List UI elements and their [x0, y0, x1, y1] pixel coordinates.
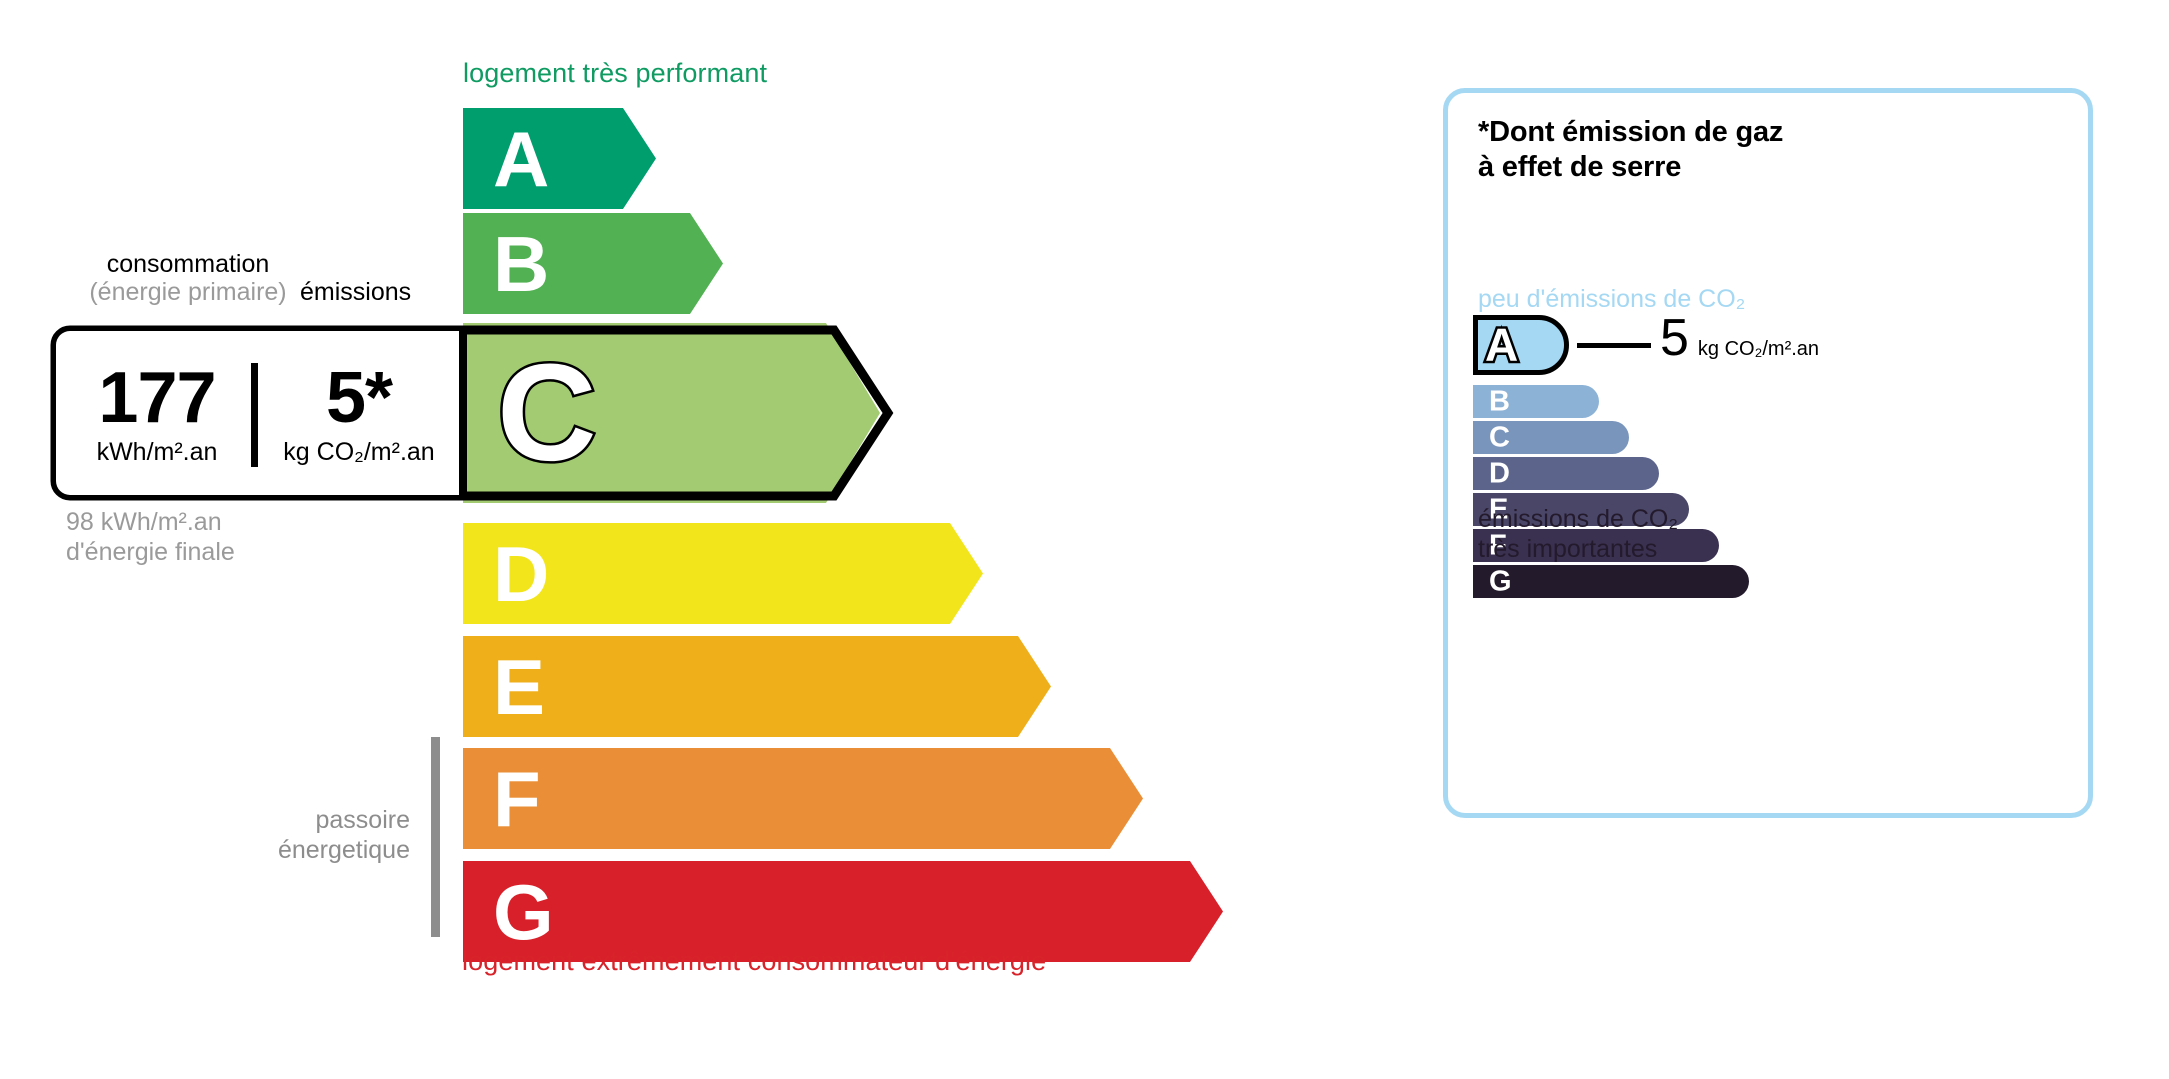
consumption-header: consommation (énergie primaire): [68, 250, 308, 306]
co2-row-b-letter: B: [1489, 390, 1510, 413]
energy-band-e-arrow: [463, 636, 1051, 737]
emissions-value: 5*: [326, 362, 392, 434]
co2-emissions-panel: *Dont émission de gaz à effet de serre p…: [1443, 88, 2093, 818]
co2-row-d[interactable]: D: [1473, 457, 1659, 490]
consumption-header-line-1: consommation: [68, 250, 308, 278]
energy-band-e[interactable]: E: [463, 636, 1051, 737]
passoire-line-1: passoire: [120, 806, 410, 836]
co2-row-a[interactable]: A: [1473, 315, 1569, 375]
energy-band-a-arrow: [463, 108, 656, 209]
co2-selected-value-group: 5 kg CO₂/m².an: [1660, 312, 1819, 364]
energy-band-d-letter: D: [493, 542, 549, 604]
energy-band-g-letter: G: [493, 880, 554, 942]
passoire-energetique-bar: [431, 737, 440, 937]
co2-panel-title-line-2: à effet de serre: [1478, 150, 1783, 185]
energy-band-b[interactable]: B: [463, 213, 723, 314]
final-energy-line-2: d'énergie finale: [66, 538, 235, 568]
energy-band-f-letter: F: [493, 767, 541, 829]
energy-performance-diagram: logement très performant A B C D E: [0, 0, 1330, 1079]
consumption-value: 177: [98, 362, 215, 434]
energy-band-d[interactable]: D: [463, 523, 983, 624]
consumption-unit: kWh/m².an: [97, 440, 218, 465]
energy-bottom-caption: logement extrêmement consommateur d'éner…: [462, 946, 1046, 977]
co2-panel-title: *Dont émission de gaz à effet de serre: [1478, 115, 1783, 186]
energy-band-a-letter: A: [493, 127, 549, 189]
energy-band-a[interactable]: A: [463, 108, 656, 209]
co2-row-b[interactable]: B: [1473, 385, 1599, 418]
passoire-energetique-label: passoire énergetique: [120, 806, 410, 865]
consumption-header-line-2: (énergie primaire): [68, 278, 308, 306]
co2-row-d-letter: D: [1489, 462, 1510, 485]
emissions-header: émissions: [300, 278, 411, 306]
selected-rating-readout: 177 kWh/m².an 5* kg CO₂/m².an: [48, 323, 923, 503]
co2-row-a-letter: A: [1485, 327, 1518, 364]
co2-row-c-letter: C: [1489, 426, 1510, 449]
co2-row-c[interactable]: C: [1473, 421, 1629, 454]
co2-selected-connector-line: [1577, 343, 1651, 348]
co2-top-caption: peu d'émissions de CO₂: [1478, 285, 1745, 314]
co2-panel-title-line-1: *Dont émission de gaz: [1478, 115, 1783, 150]
co2-bottom-caption: émissions de CO₂ très importantes: [1478, 505, 1678, 564]
co2-selected-unit: kg CO₂/m².an: [1698, 338, 1819, 361]
emissions-readout: 5* kg CO₂/m².an: [260, 323, 458, 503]
co2-row-g[interactable]: G: [1473, 565, 1749, 598]
energy-band-f-arrow: [463, 748, 1143, 849]
final-energy-line-1: 98 kWh/m².an: [66, 508, 235, 538]
passoire-line-2: énergetique: [120, 836, 410, 866]
consumption-readout: 177 kWh/m².an: [62, 323, 252, 503]
energy-top-caption: logement très performant: [463, 58, 767, 89]
energy-band-e-letter: E: [493, 655, 545, 717]
co2-row-g-bar: [1473, 565, 1749, 598]
final-energy-note: 98 kWh/m².an d'énergie finale: [66, 508, 235, 567]
energy-band-f[interactable]: F: [463, 748, 1143, 849]
co2-bottom-caption-line-1: émissions de CO₂: [1478, 505, 1678, 535]
co2-bottom-caption-line-2: très importantes: [1478, 535, 1678, 565]
co2-selected-value: 5: [1660, 312, 1689, 364]
energy-band-b-letter: B: [493, 232, 549, 294]
co2-row-g-letter: G: [1489, 570, 1512, 593]
emissions-unit: kg CO₂/m².an: [283, 440, 434, 465]
